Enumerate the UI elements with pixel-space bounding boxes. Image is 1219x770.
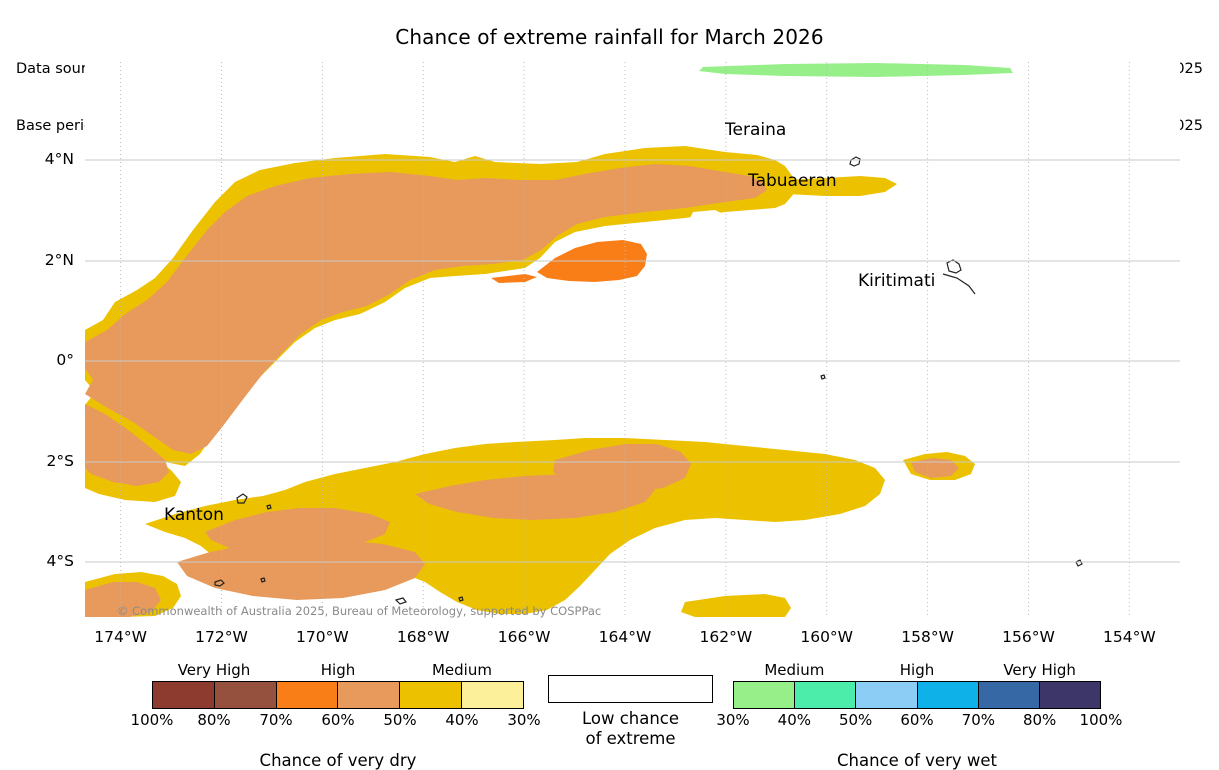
- wet-caption: Chance of very wet: [733, 751, 1101, 770]
- x-tick-label-156w: 156°W: [989, 628, 1069, 646]
- wet-tick-50: 50%: [839, 711, 872, 729]
- x-tick-label-160w: 160°W: [787, 628, 867, 646]
- dry-swatch-100-80[interactable]: [153, 682, 214, 708]
- wet-tick-100: 100%: [1080, 711, 1123, 729]
- dry-tick-50: 50%: [383, 711, 416, 729]
- y-tick-label-0: 0°: [8, 351, 74, 369]
- attribution-text: © Commonwealth of Australia 2025, Bureau…: [117, 604, 601, 618]
- dry-caption: Chance of very dry: [152, 751, 524, 770]
- x-tick-label-170w: 170°W: [282, 628, 362, 646]
- map-plot-area: Teraina Tabuaeran Kiritimati Kanton: [85, 62, 1180, 617]
- wet-category-medium: Medium: [764, 661, 824, 679]
- x-tick-label-154w: 154°W: [1089, 628, 1169, 646]
- low-chance-legend: Low chance of extreme: [548, 675, 713, 749]
- wet-swatch-40-50[interactable]: [794, 682, 855, 708]
- low-chance-line2: of extreme: [548, 729, 713, 749]
- low-chance-line1: Low chance: [548, 709, 713, 729]
- x-tick-label-168w: 168°W: [383, 628, 463, 646]
- place-label-kiritimati: Kiritimati: [858, 271, 935, 291]
- wet-swatch-80-100[interactable]: [1039, 682, 1100, 708]
- dry-swatch-80-70[interactable]: [214, 682, 276, 708]
- dry-tick-60: 60%: [321, 711, 354, 729]
- y-tick-label-4n: 4°N: [8, 150, 74, 168]
- dry-tick-80: 80%: [197, 711, 230, 729]
- dry-tick-40: 40%: [445, 711, 478, 729]
- wet-tick-30: 30%: [716, 711, 749, 729]
- dry-swatch-40-30[interactable]: [461, 682, 523, 708]
- wet-swatch-50-60[interactable]: [855, 682, 916, 708]
- wet-category-row: Medium High Very High: [733, 661, 1101, 681]
- wet-tick-70: 70%: [962, 711, 995, 729]
- dry-swatch-70-60[interactable]: [276, 682, 338, 708]
- wet-tick-60: 60%: [900, 711, 933, 729]
- x-tick-label-174w: 174°W: [81, 628, 161, 646]
- wet-tick-80: 80%: [1023, 711, 1056, 729]
- y-tick-label-4s: 4°S: [8, 552, 74, 570]
- wet-swatch-70-80[interactable]: [978, 682, 1039, 708]
- wet-swatch-30-40[interactable]: [734, 682, 794, 708]
- dry-color-scale[interactable]: [152, 681, 524, 709]
- place-label-tabuaeran: Tabuaeran: [748, 171, 837, 191]
- low-chance-caption: Low chance of extreme: [548, 709, 713, 749]
- dry-swatch-60-50[interactable]: [337, 682, 399, 708]
- dry-tick-30: 30%: [507, 711, 540, 729]
- dry-tick-row: 100% 80% 70% 60% 50% 40% 30%: [152, 709, 524, 729]
- wet-tick-row: 30% 40% 50% 60% 70% 80% 100%: [733, 709, 1101, 729]
- y-tick-label-2s: 2°S: [8, 452, 74, 470]
- contour-wet-30: [699, 63, 1013, 77]
- place-label-teraina: Teraina: [725, 120, 786, 140]
- rainfall-contour-map: [85, 62, 1180, 617]
- wet-category-very-high: Very High: [1003, 661, 1076, 679]
- legend: Very High High Medium 100% 80% 70% 60% 5…: [0, 655, 1219, 758]
- dry-tick-100: 100%: [131, 711, 174, 729]
- x-tick-label-172w: 172°W: [182, 628, 262, 646]
- wet-category-high: High: [900, 661, 934, 679]
- x-tick-label-164w: 164°W: [585, 628, 665, 646]
- x-tick-label-158w: 158°W: [888, 628, 968, 646]
- colorbar-very-wet: Medium High Very High 30% 40% 50% 60% 70…: [733, 661, 1101, 770]
- low-chance-swatch[interactable]: [548, 675, 713, 703]
- wet-color-scale[interactable]: [733, 681, 1101, 709]
- x-tick-label-162w: 162°W: [686, 628, 766, 646]
- dry-swatch-50-40[interactable]: [399, 682, 461, 708]
- y-tick-label-2n: 2°N: [8, 251, 74, 269]
- colorbar-very-dry: Very High High Medium 100% 80% 70% 60% 5…: [152, 661, 524, 770]
- page-title: Chance of extreme rainfall for March 202…: [0, 25, 1219, 49]
- dry-category-row: Very High High Medium: [152, 661, 524, 681]
- place-label-kanton: Kanton: [164, 505, 224, 525]
- wet-tick-40: 40%: [778, 711, 811, 729]
- wet-swatch-60-70[interactable]: [917, 682, 978, 708]
- x-tick-label-166w: 166°W: [484, 628, 564, 646]
- dry-category-medium: Medium: [432, 661, 492, 679]
- dry-category-very-high: Very High: [178, 661, 251, 679]
- dry-tick-70: 70%: [259, 711, 292, 729]
- dry-category-high: High: [321, 661, 355, 679]
